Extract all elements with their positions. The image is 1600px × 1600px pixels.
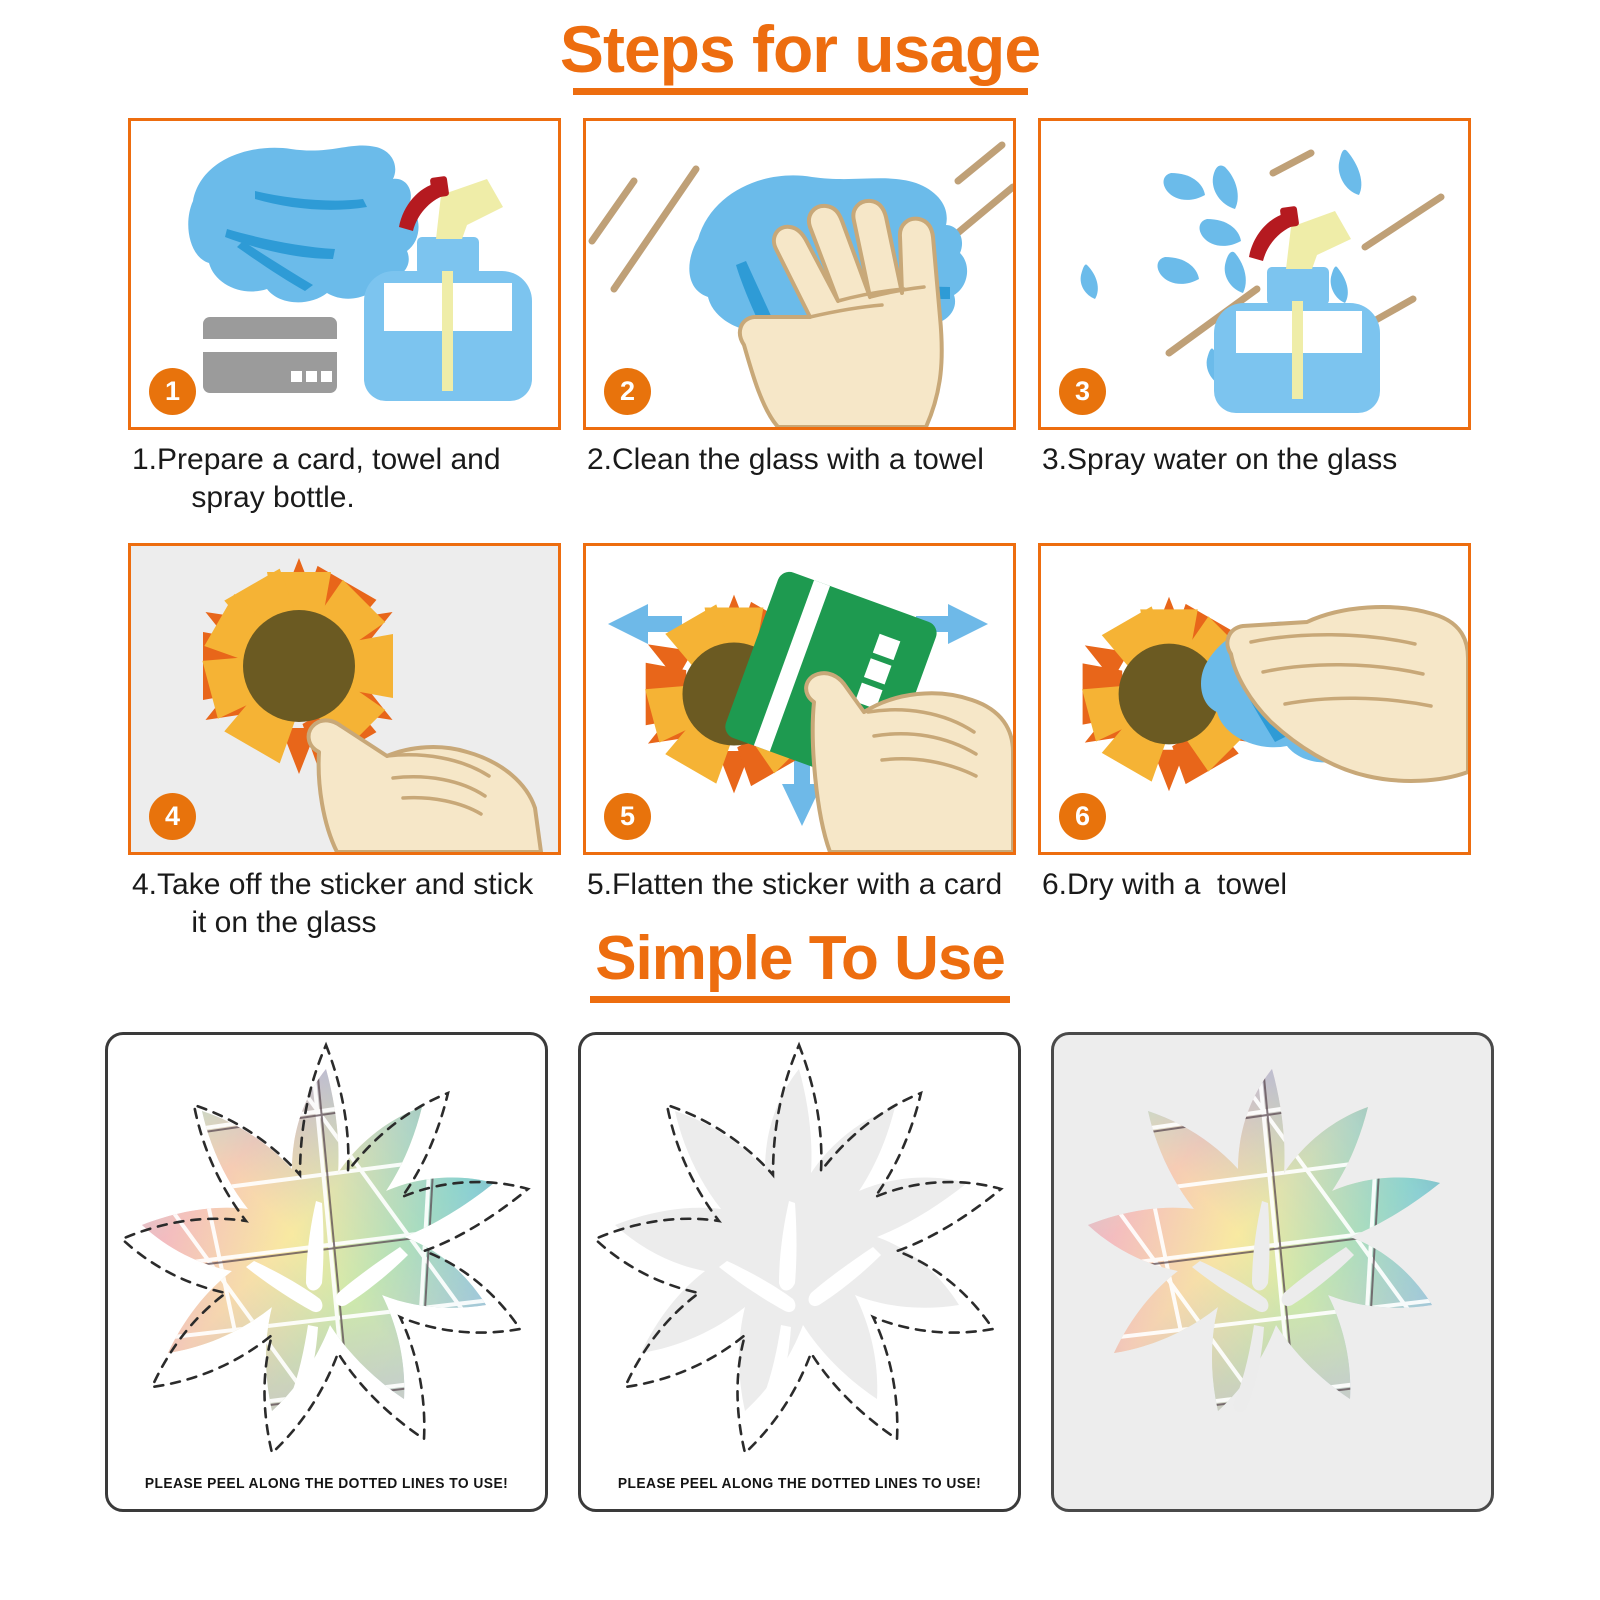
leaf-sticker-with-cut-lines: [108, 1035, 545, 1509]
step-caption-6: 6.Dry with a towel: [1042, 866, 1471, 904]
step-panel-6[interactable]: 6: [1038, 543, 1471, 855]
peel-instruction-label: PLEASE PEEL ALONG THE DOTTED LINES TO US…: [125, 1475, 527, 1492]
backing-sheet-card[interactable]: PLEASE PEEL ALONG THE DOTTED LINES TO US…: [578, 1032, 1021, 1512]
hand-drying-sticker-towel-icon: [1041, 546, 1468, 852]
towel-card-spray-bottle-icon: [131, 121, 558, 427]
step-panel-2[interactable]: 2: [583, 118, 1016, 430]
simple-to-use-title-block: Simple To Use: [0, 928, 1600, 1003]
flower-center: [243, 610, 355, 722]
step-caption-5: 5.Flatten the sticker with a card: [587, 866, 1016, 904]
steps-row-top: 1 1.Prepare a card, towel and spray bott…: [128, 118, 1472, 518]
step-cell-4: 4 4.Take off the sticker and stick it on…: [128, 543, 561, 943]
step-panel-4[interactable]: 4: [128, 543, 561, 855]
section-title-simple-to-use: Simple To Use: [595, 928, 1005, 990]
step-caption-2: 2.Clean the glass with a towel: [587, 441, 1016, 479]
green-card-flatten-sticker-icon: [586, 546, 1013, 852]
spray-bottle-droplets-icon: [1041, 121, 1468, 427]
leaf-backing-sheet: [581, 1035, 1018, 1509]
hand-wiping-towel-icon: [586, 121, 1013, 427]
step-caption-3: 3.Spray water on the glass: [1042, 441, 1471, 479]
hand-holding-sunflower-sticker-icon: [131, 546, 558, 852]
step-caption-1: 1.Prepare a card, towel and spray bottle…: [132, 441, 561, 518]
step-cell-1: 1 1.Prepare a card, towel and spray bott…: [128, 118, 561, 518]
step-panel-1[interactable]: 1: [128, 118, 561, 430]
leaf-fill: [108, 1035, 545, 1509]
step-cell-6: 6 6.Dry with a towel: [1038, 543, 1471, 943]
simple-to-use-cards: PLEASE PEEL ALONG THE DOTTED LINES TO US…: [105, 1032, 1495, 1512]
step-badge-4: 4: [149, 793, 196, 840]
step-badge-1: 1: [149, 368, 196, 415]
title-underline: [573, 88, 1028, 95]
step-badge-2: 2: [604, 368, 651, 415]
step-cell-5: 5 5.Flatten the sticker with a card: [583, 543, 1016, 943]
step-cell-2: 2 2.Clean the glass with a towel: [583, 118, 1016, 518]
section-title-underline: [590, 996, 1010, 1003]
step-panel-3[interactable]: 3: [1038, 118, 1471, 430]
leaf-sticker-applied-on-glass: [1054, 1035, 1491, 1509]
step-panel-5[interactable]: 5: [583, 543, 1016, 855]
applied-sticker-card[interactable]: [1051, 1032, 1494, 1512]
sunflower: [196, 558, 401, 774]
page-title: Steps for usage: [560, 8, 1040, 82]
steps-row-bottom: 4 4.Take off the sticker and stick it on…: [128, 543, 1472, 943]
step-badge-5: 5: [604, 793, 651, 840]
leaf-fill: [1054, 1035, 1491, 1509]
steps-title-block: Steps for usage: [0, 8, 1600, 95]
step-badge-6: 6: [1059, 793, 1106, 840]
steps-grid: 1 1.Prepare a card, towel and spray bott…: [128, 118, 1472, 943]
sticker-sheet-card[interactable]: PLEASE PEEL ALONG THE DOTTED LINES TO US…: [105, 1032, 548, 1512]
step-cell-3: 3 3.Spray water on the glass: [1038, 118, 1471, 518]
step-badge-3: 3: [1059, 368, 1106, 415]
peel-instruction-label: PLEASE PEEL ALONG THE DOTTED LINES TO US…: [598, 1475, 1000, 1492]
